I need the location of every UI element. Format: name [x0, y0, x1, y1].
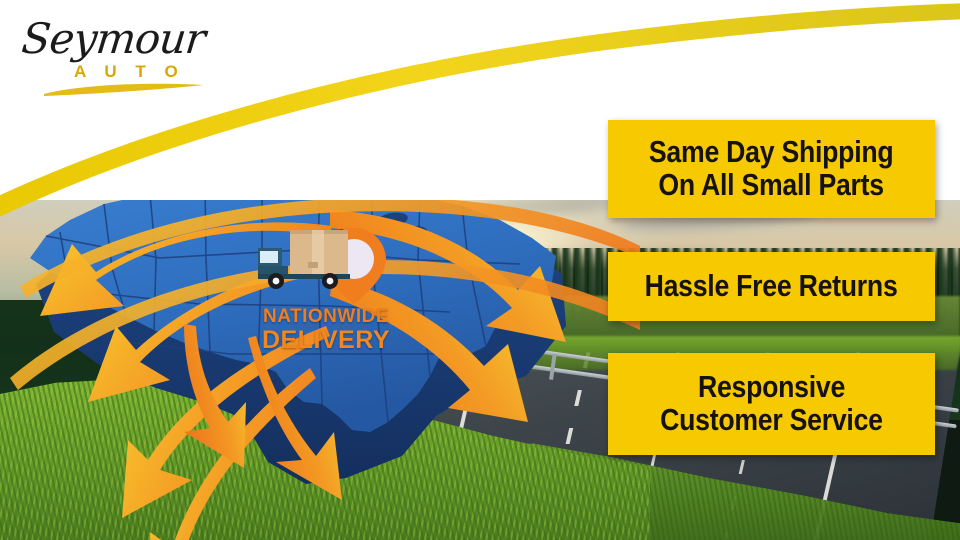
logo-subtext: A U T O: [74, 62, 185, 82]
banner-line: On All Small Parts: [659, 169, 884, 202]
banner-line: Responsive: [698, 371, 845, 404]
nationwide-delivery-badge: NATIONWIDE DELIVERY: [246, 218, 406, 368]
banner-hassle-free-returns[interactable]: Hassle Free Returns: [608, 252, 935, 321]
banner-line: Customer Service: [660, 404, 883, 437]
banner-line: Same Day Shipping: [649, 136, 894, 169]
seymour-auto-logo[interactable]: Seymour A U T O: [14, 10, 214, 96]
logo-swash-icon: [44, 82, 204, 96]
banner-line: Hassle Free Returns: [645, 270, 898, 303]
promo-banner-stage: NATIONWIDE DELIVERY Seymour A U T O: [0, 0, 960, 540]
delivery-truck-icon: [258, 230, 350, 289]
delivery-line-1: NATIONWIDE: [251, 306, 401, 328]
banner-responsive-customer-service[interactable]: Responsive Customer Service: [608, 353, 935, 455]
logo-wordmark: Seymour: [20, 18, 207, 60]
banner-same-day-shipping[interactable]: Same Day Shipping On All Small Parts: [608, 120, 935, 218]
delivery-line-2: DELIVERY: [251, 326, 401, 355]
